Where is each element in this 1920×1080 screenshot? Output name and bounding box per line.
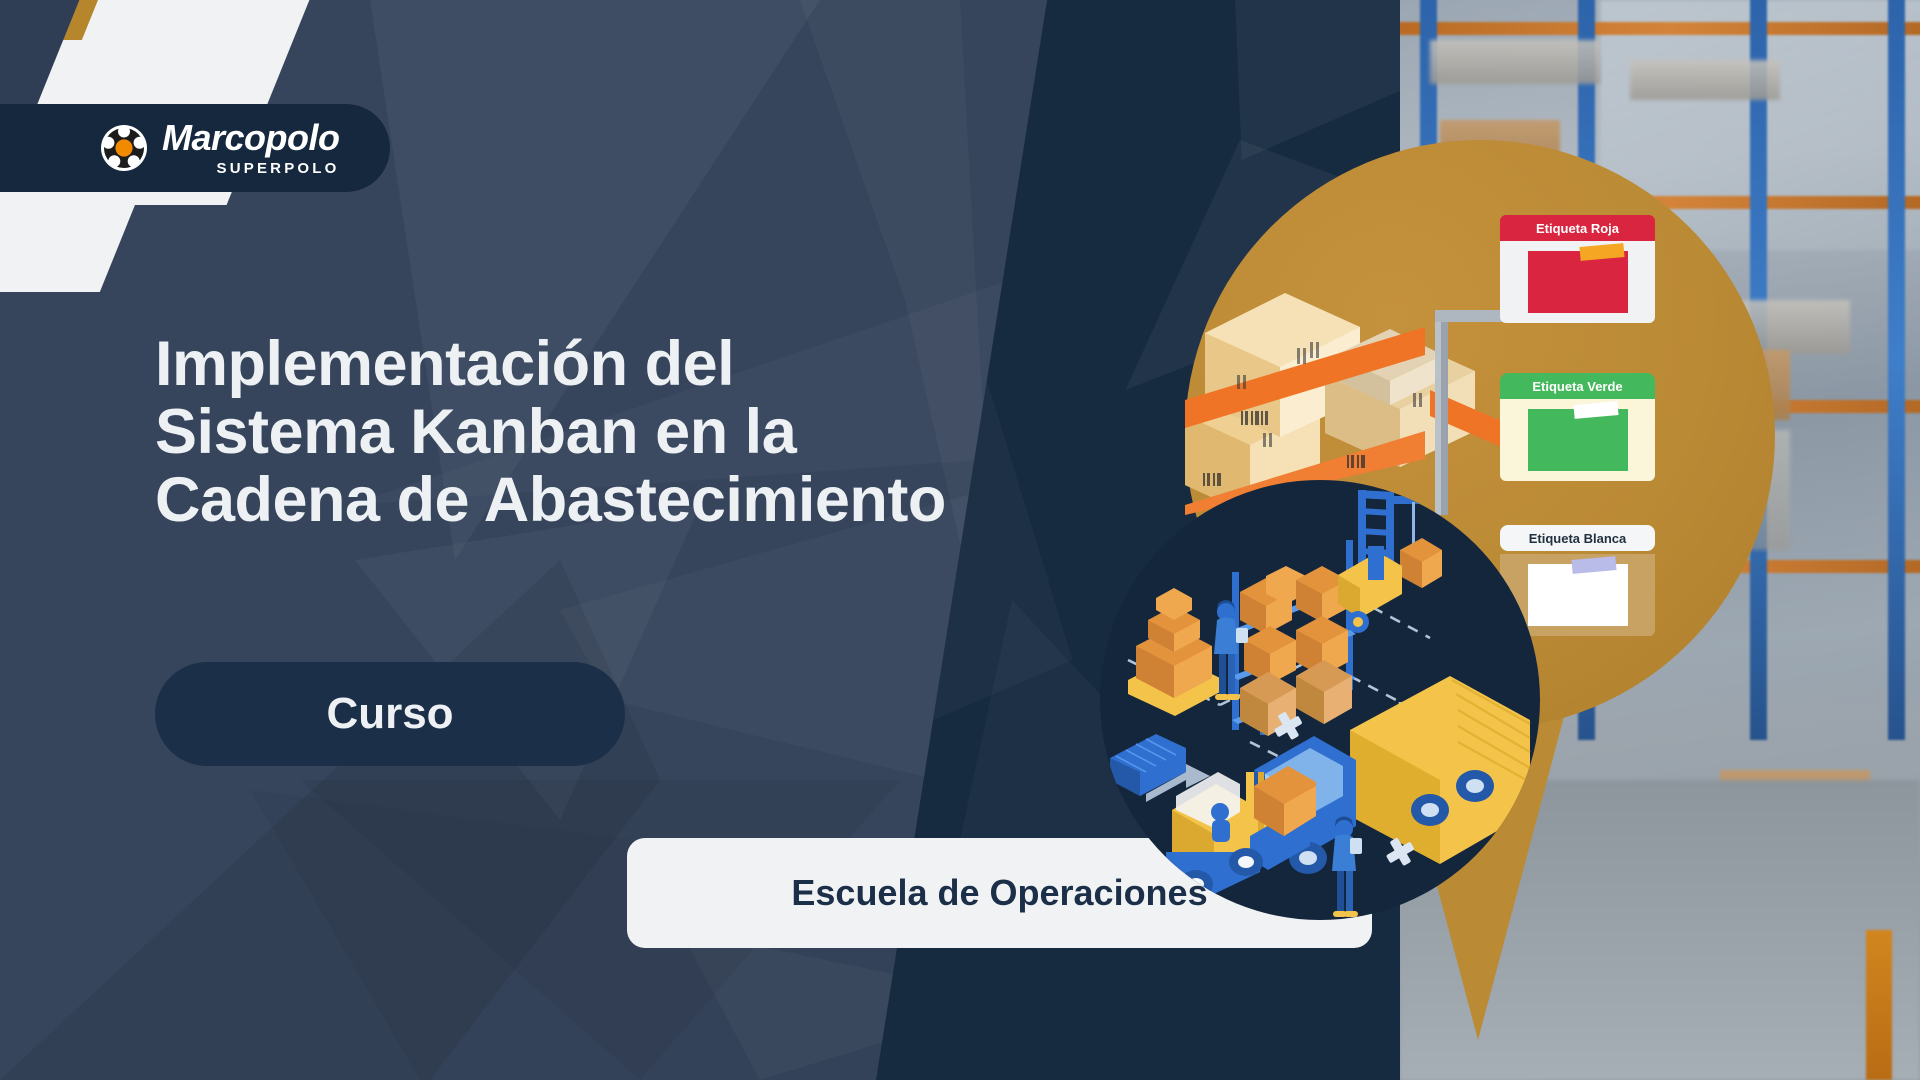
- kanban-note-white: [1528, 564, 1628, 626]
- marcopolo-wheel-icon: [100, 124, 148, 172]
- brand-sub-name: SUPERPOLO: [217, 161, 340, 176]
- logistics-illustration-circle: [1100, 480, 1540, 920]
- kanban-tape-red: [1579, 243, 1624, 261]
- page-title: Implementación del Sistema Kanban en la …: [155, 330, 1165, 534]
- kanban-card-green-header: Etiqueta Verde: [1500, 373, 1655, 399]
- kanban-card-green-body: [1500, 399, 1655, 481]
- kanban-card-red-body: [1500, 241, 1655, 323]
- school-name-label: Escuela de Operaciones: [791, 872, 1207, 914]
- kanban-card-green: Etiqueta Verde: [1500, 373, 1655, 481]
- kanban-card-red-header: Etiqueta Roja: [1500, 215, 1655, 241]
- brand-logo-bar: Marcopolo SUPERPOLO: [0, 104, 390, 192]
- kanban-note-green: [1528, 409, 1628, 471]
- kanban-card-red: Etiqueta Roja: [1500, 215, 1655, 323]
- course-type-label: Curso: [326, 689, 453, 739]
- pallet-rack-illustration: [1185, 215, 1515, 515]
- kanban-card-white-header: Etiqueta Blanca: [1500, 525, 1655, 551]
- slide-canvas: Marcopolo SUPERPOLO Implementación del S…: [0, 0, 1920, 1080]
- kanban-note-red: [1528, 251, 1628, 313]
- kanban-tape-green: [1573, 401, 1618, 419]
- brand-name: Marcopolo: [162, 120, 340, 156]
- course-type-badge: Curso: [155, 662, 625, 766]
- kanban-tape-white: [1571, 556, 1616, 574]
